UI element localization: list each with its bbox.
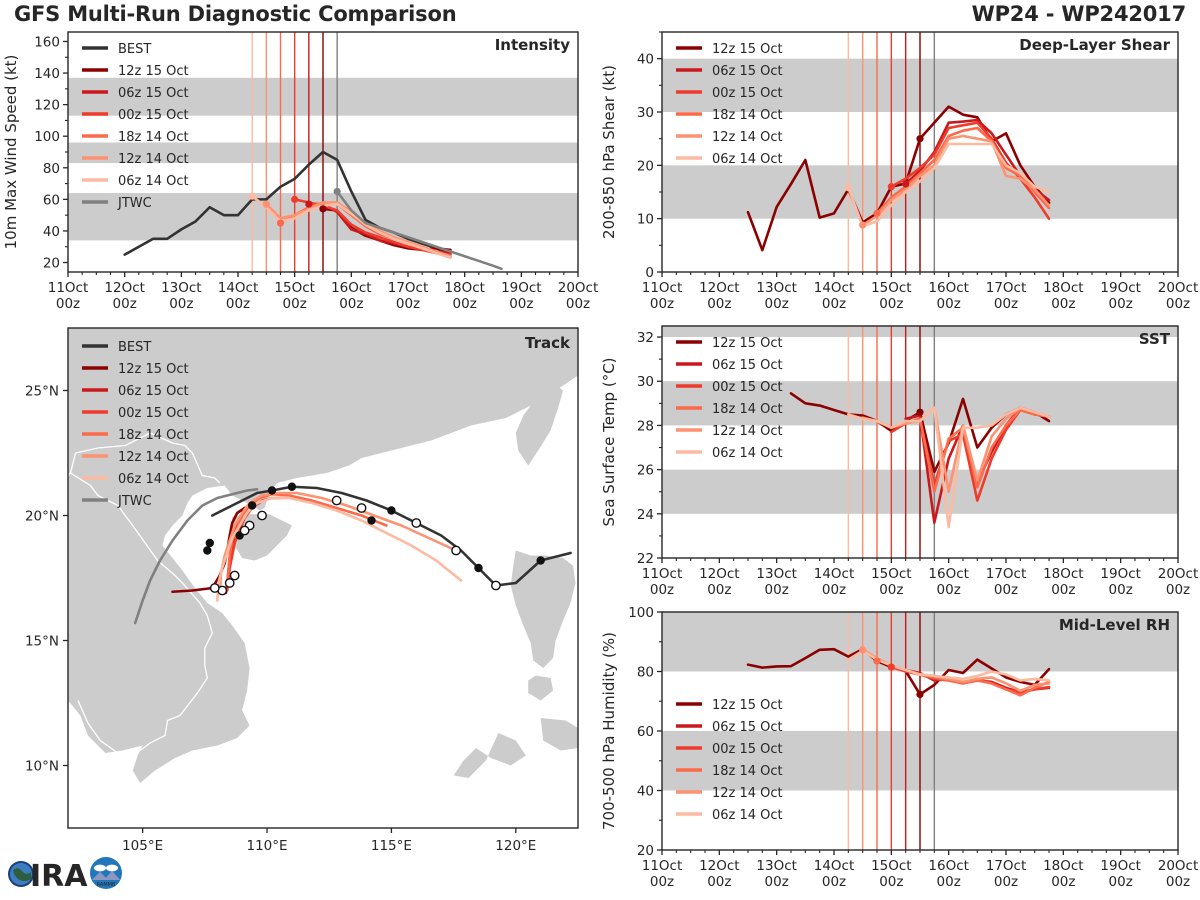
legend-label: 06z 14 Oct — [712, 446, 783, 461]
legend-label: 06z 15 Oct — [118, 384, 189, 399]
panel-title: Deep-Layer Shear — [1019, 36, 1170, 54]
x-tick-day: 17Oct — [986, 566, 1027, 582]
init-marker — [319, 205, 326, 212]
x-tick-day: 11Oct — [642, 280, 683, 296]
x-tick-day: 18Oct — [1043, 280, 1084, 296]
x-tick-hour: 00z — [1109, 296, 1133, 312]
y-axis-label: 700-500 hPa Humidity (%) — [600, 632, 618, 830]
track-marker-00z — [248, 501, 256, 509]
x-tick-day: 18Oct — [444, 280, 485, 296]
legend-label: BEST — [118, 42, 151, 57]
panel-title: Track — [525, 334, 571, 352]
cira-logo: IRA RAMMB — [6, 848, 134, 896]
x-tick-day: 12Oct — [699, 858, 740, 874]
x-tick-hour: 00z — [879, 582, 903, 598]
x-tick-day: 19Oct — [1100, 858, 1141, 874]
x-tick-day: 14Oct — [218, 280, 259, 296]
init-marker — [916, 409, 923, 416]
y-tick-label: 20 — [637, 158, 654, 174]
x-tick-hour: 00z — [650, 296, 674, 312]
legend-label: JTWC — [117, 196, 152, 211]
x-tick-hour: 00z — [707, 582, 731, 598]
border-west — [48, 473, 70, 486]
track-marker-00z — [536, 556, 544, 564]
x-tick-hour: 00z — [56, 296, 80, 312]
init-marker — [873, 657, 880, 664]
x-tick-hour: 00z — [822, 582, 846, 598]
x-tick-day: 11Oct — [48, 280, 89, 296]
panel-title: Intensity — [495, 36, 571, 54]
y-tick-label: 60 — [637, 724, 654, 740]
lat-tick-label: 20°N — [25, 509, 59, 525]
y-axis-label: 10m Max Wind Speed (kt) — [2, 55, 20, 250]
y-tick-label: 100 — [628, 605, 654, 621]
x-tick-hour: 00z — [650, 874, 674, 890]
x-tick-day: 12Oct — [699, 566, 740, 582]
init-marker — [916, 135, 923, 142]
init-marker — [888, 663, 895, 670]
x-tick-day: 17Oct — [986, 858, 1027, 874]
y-axis-label: 200-850 hPa Shear (kt) — [600, 65, 618, 239]
track-marker-12z — [230, 571, 238, 579]
track-marker-00z — [474, 564, 482, 572]
x-tick-day: 16Oct — [928, 858, 969, 874]
x-tick-day: 16Oct — [928, 280, 969, 296]
x-tick-hour: 00z — [396, 296, 420, 312]
x-tick-hour: 00z — [113, 296, 137, 312]
init-marker — [305, 201, 312, 208]
x-tick-hour: 00z — [1051, 582, 1075, 598]
x-tick-day: 15Oct — [871, 858, 912, 874]
y-tick-label: 100 — [34, 129, 60, 145]
legend-label: 12z 15 Oct — [712, 698, 783, 713]
x-tick-hour: 00z — [1109, 874, 1133, 890]
x-tick-day: 17Oct — [986, 280, 1027, 296]
track-marker-12z — [258, 511, 266, 519]
x-tick-day: 11Oct — [642, 858, 683, 874]
track-marker-00z — [206, 539, 214, 547]
y-tick-label: 30 — [637, 105, 654, 121]
legend-label: 06z 15 Oct — [712, 64, 783, 79]
track-marker-12z — [357, 504, 365, 512]
y-tick-label: 80 — [637, 665, 654, 681]
y-tick-label: 160 — [34, 34, 60, 50]
track-marker-00z — [367, 516, 375, 524]
y-tick-label: 120 — [34, 98, 60, 114]
y-tick-label: 0 — [645, 265, 654, 281]
y-tick-label: 60 — [43, 192, 60, 208]
legend-label: 12z 14 Oct — [712, 786, 783, 801]
legend-label: 12z 14 Oct — [712, 424, 783, 439]
init-marker — [334, 188, 341, 195]
init-marker — [263, 201, 270, 208]
x-tick-day: 19Oct — [1100, 280, 1141, 296]
x-tick-day: 13Oct — [756, 566, 797, 582]
x-tick-day: 20Oct — [1158, 566, 1199, 582]
legend-label: 06z 14 Oct — [712, 152, 783, 167]
init-marker — [916, 691, 923, 698]
y-tick-label: 28 — [637, 418, 654, 434]
legend-label: 06z 14 Oct — [118, 174, 189, 189]
x-tick-day: 20Oct — [1158, 858, 1199, 874]
legend-label: 12z 14 Oct — [118, 450, 189, 465]
x-tick-hour: 00z — [994, 296, 1018, 312]
x-tick-day: 15Oct — [871, 566, 912, 582]
y-tick-label: 40 — [43, 224, 60, 240]
x-tick-hour: 00z — [765, 296, 789, 312]
x-tick-hour: 00z — [453, 296, 477, 312]
x-tick-hour: 00z — [650, 582, 674, 598]
legend-label: BEST — [118, 340, 151, 355]
legend-label: 18z 14 Oct — [118, 428, 189, 443]
legend-label: 00z 15 Oct — [118, 406, 189, 421]
legend-label: 12z 15 Oct — [712, 336, 783, 351]
lon-tick-label: 115°E — [371, 838, 412, 854]
legend-label: 12z 14 Oct — [118, 152, 189, 167]
x-tick-day: 15Oct — [871, 280, 912, 296]
legend-label: 06z 15 Oct — [712, 358, 783, 373]
init-marker — [277, 219, 284, 226]
legend-label: 06z 15 Oct — [712, 720, 783, 735]
y-tick-label: 32 — [637, 330, 654, 346]
x-tick-day: 18Oct — [1043, 566, 1084, 582]
lon-tick-label: 120°E — [495, 838, 536, 854]
legend-label: 18z 14 Oct — [712, 402, 783, 417]
x-tick-hour: 00z — [1166, 296, 1190, 312]
init-marker — [845, 184, 852, 191]
legend-label: 12z 15 Oct — [712, 42, 783, 57]
x-tick-day: 20Oct — [558, 280, 599, 296]
track-marker-12z — [452, 546, 460, 554]
legend-label: 06z 14 Oct — [118, 472, 189, 487]
x-tick-day: 16Oct — [928, 566, 969, 582]
x-tick-hour: 00z — [879, 874, 903, 890]
legend-label: 12z 14 Oct — [712, 130, 783, 145]
x-tick-hour: 00z — [1166, 874, 1190, 890]
x-tick-day: 13Oct — [756, 280, 797, 296]
x-tick-hour: 00z — [879, 296, 903, 312]
y-tick-label: 140 — [34, 66, 60, 82]
x-tick-hour: 00z — [707, 874, 731, 890]
init-marker — [859, 221, 866, 228]
y-axis-label: Sea Surface Temp (°C) — [600, 357, 618, 526]
x-tick-hour: 00z — [765, 582, 789, 598]
legend-label: 00z 15 Oct — [712, 86, 783, 101]
legend-label: 06z 14 Oct — [712, 808, 783, 823]
panel-track: 10°N15°N20°N25°N105°E110°E115°E120°ETrac… — [0, 318, 600, 878]
track-marker-12z — [226, 579, 234, 587]
legend-label: 12z 15 Oct — [118, 64, 189, 79]
x-tick-hour: 00z — [1109, 582, 1133, 598]
x-tick-day: 14Oct — [814, 858, 855, 874]
x-tick-hour: 00z — [339, 296, 363, 312]
panel-title: SST — [1139, 330, 1171, 348]
y-tick-label: 40 — [637, 52, 654, 68]
y-tick-label: 10 — [637, 212, 654, 228]
track-marker-12z — [332, 496, 340, 504]
x-tick-day: 17Oct — [388, 280, 429, 296]
track-marker-12z — [492, 581, 500, 589]
x-tick-hour: 00z — [566, 296, 590, 312]
x-tick-hour: 00z — [937, 874, 961, 890]
x-tick-day: 18Oct — [1043, 858, 1084, 874]
init-marker — [888, 183, 895, 190]
x-tick-day: 20Oct — [1158, 280, 1199, 296]
legend-label: 00z 15 Oct — [712, 742, 783, 757]
x-tick-day: 12Oct — [104, 280, 145, 296]
panel-intensity: 2040608010012014016011Oct00z12Oct00z13Oc… — [0, 22, 600, 322]
x-tick-hour: 00z — [822, 874, 846, 890]
init-marker — [249, 193, 256, 200]
y-tick-label: 26 — [637, 463, 654, 479]
legend-label: 06z 15 Oct — [118, 86, 189, 101]
init-marker — [291, 196, 298, 203]
x-tick-hour: 00z — [1051, 296, 1075, 312]
track-marker-00z — [288, 483, 296, 491]
lat-tick-label: 10°N — [25, 759, 59, 775]
x-tick-day: 19Oct — [1100, 566, 1141, 582]
init-marker — [859, 646, 866, 653]
lon-tick-label: 110°E — [246, 838, 287, 854]
legend-label: 18z 14 Oct — [712, 108, 783, 123]
panel-title: Mid-Level RH — [1059, 616, 1170, 634]
panel-rh: 2040608010011Oct00z12Oct00z13Oct00z14Oct… — [600, 604, 1200, 900]
x-tick-day: 15Oct — [274, 280, 315, 296]
x-tick-hour: 00z — [994, 582, 1018, 598]
legend-label: 12z 15 Oct — [118, 362, 189, 377]
legend-label: 00z 15 Oct — [712, 380, 783, 395]
svg-text:IRA: IRA — [30, 859, 88, 894]
x-tick-hour: 00z — [509, 296, 533, 312]
y-tick-label: 20 — [43, 256, 60, 272]
y-tick-label: 40 — [637, 784, 654, 800]
lat-tick-label: 15°N — [25, 634, 59, 650]
init-marker — [902, 180, 909, 187]
x-tick-hour: 00z — [283, 296, 307, 312]
legend-label: JTWC — [117, 494, 152, 509]
x-tick-hour: 00z — [937, 582, 961, 598]
x-tick-day: 13Oct — [756, 858, 797, 874]
x-tick-hour: 00z — [1166, 582, 1190, 598]
x-tick-day: 11Oct — [642, 566, 683, 582]
legend-label: 00z 15 Oct — [118, 108, 189, 123]
x-tick-hour: 00z — [994, 874, 1018, 890]
x-tick-hour: 00z — [707, 296, 731, 312]
panel-sst: 22242628303211Oct00z12Oct00z13Oct00z14Oc… — [600, 318, 1200, 608]
track-marker-12z — [240, 526, 248, 534]
svg-text:RAMMB: RAMMB — [97, 882, 116, 888]
x-tick-day: 14Oct — [814, 566, 855, 582]
legend-label: 18z 14 Oct — [712, 764, 783, 779]
x-tick-hour: 00z — [937, 296, 961, 312]
lat-tick-label: 25°N — [25, 384, 59, 400]
init-marker — [873, 210, 880, 217]
y-tick-label: 22 — [637, 551, 654, 567]
track-marker-00z — [203, 546, 211, 554]
x-tick-day: 14Oct — [814, 280, 855, 296]
x-tick-day: 12Oct — [699, 280, 740, 296]
y-tick-label: 80 — [43, 161, 60, 177]
track-marker-12z — [412, 519, 420, 527]
track-marker-00z — [387, 506, 395, 514]
x-tick-day: 19Oct — [501, 280, 542, 296]
legend-label: 18z 14 Oct — [118, 130, 189, 145]
y-tick-label: 30 — [637, 374, 654, 390]
panel-shear: 01020304011Oct00z12Oct00z13Oct00z14Oct00… — [600, 22, 1200, 322]
x-tick-hour: 00z — [765, 874, 789, 890]
track-marker-12z — [211, 584, 219, 592]
x-tick-hour: 00z — [1051, 874, 1075, 890]
x-tick-hour: 00z — [169, 296, 193, 312]
y-tick-label: 24 — [637, 507, 654, 523]
x-tick-hour: 00z — [822, 296, 846, 312]
x-tick-day: 13Oct — [161, 280, 202, 296]
track-marker-00z — [268, 486, 276, 494]
x-tick-day: 16Oct — [331, 280, 372, 296]
y-tick-label: 20 — [637, 843, 654, 859]
x-tick-hour: 00z — [226, 296, 250, 312]
